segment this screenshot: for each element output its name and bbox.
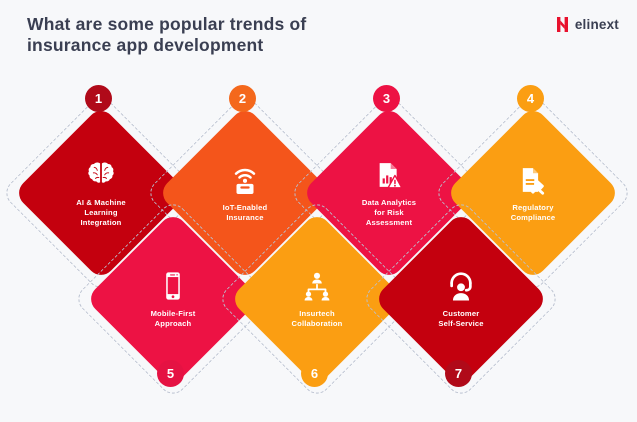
- trends-diagram: AI & Machine Learning Integration1 IoT-E…: [0, 62, 637, 422]
- step-badge-7: 7: [445, 360, 472, 387]
- gavel-document-icon: [516, 163, 550, 197]
- step-badge-6: 6: [301, 360, 328, 387]
- elinext-logo-mark: [555, 16, 570, 33]
- people-network-icon: [300, 269, 334, 303]
- step-badge-3: 3: [373, 85, 400, 112]
- card-label: Insurtech Collaboration: [265, 309, 369, 329]
- iot-device-icon: [228, 163, 262, 197]
- card-content: Mobile-First Approach: [111, 237, 235, 361]
- step-badge-5: 5: [157, 360, 184, 387]
- brand-logo: elinext: [555, 16, 619, 33]
- page-title: What are some popular trends of insuranc…: [27, 14, 427, 56]
- card-label: IoT-Enabled Insurance: [193, 203, 297, 223]
- card-label: Regulatory Compliance: [481, 203, 585, 223]
- card-label: Mobile-First Approach: [121, 309, 225, 329]
- step-badge-4: 4: [517, 85, 544, 112]
- brain-icon: [84, 158, 118, 192]
- smartphone-icon: [156, 269, 190, 303]
- header: What are some popular trends of insuranc…: [0, 0, 637, 62]
- trend-card-5[interactable]: Mobile-First Approach: [111, 237, 235, 361]
- risk-report-icon: [372, 158, 406, 192]
- support-agent-icon: [444, 269, 478, 303]
- elinext-logo-text: elinext: [575, 17, 619, 32]
- card-label: AI & Machine Learning Integration: [49, 198, 153, 228]
- trend-card-6[interactable]: Insurtech Collaboration: [255, 237, 379, 361]
- step-badge-2: 2: [229, 85, 256, 112]
- card-label: Data Analytics for Risk Assessment: [337, 198, 441, 228]
- card-content: Insurtech Collaboration: [255, 237, 379, 361]
- card-content: Customer Self-Service: [399, 237, 523, 361]
- trend-card-7[interactable]: Customer Self-Service: [399, 237, 523, 361]
- card-label: Customer Self-Service: [409, 309, 513, 329]
- step-badge-1: 1: [85, 85, 112, 112]
